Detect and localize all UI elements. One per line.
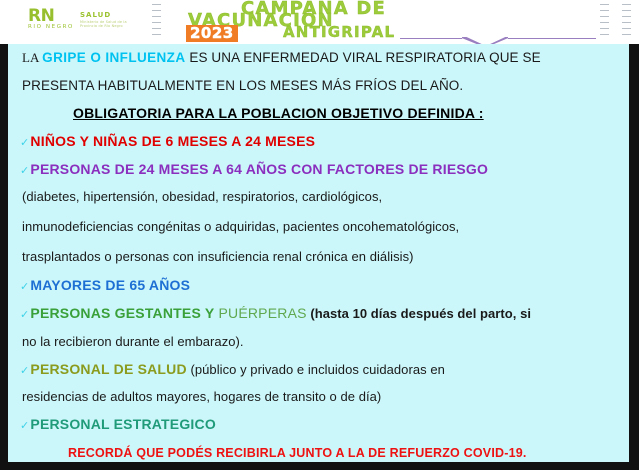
rio-negro-salud-logo: RN RIO NEGRO SALUD Ministerio de Salud d…: [28, 8, 148, 36]
detail-line: residencias de adultos mayores, hogares …: [22, 389, 381, 404]
intro-line-1: LA GRIPE O INFLUENZA ES UNA ENFERMEDAD V…: [22, 50, 541, 66]
logo-ministry: SALUD: [80, 11, 111, 19]
list-item-label-secondary: PUÉRPERAS: [218, 305, 306, 321]
list-item-personal-salud: ✓PERSONAL DE SALUD (público y privado e …: [20, 361, 445, 377]
logo-ministry-sub: Ministerio de Salud de la Provincia de R…: [80, 20, 144, 28]
section-heading: OBLIGATORIA PARA LA POBLACION OBJETIVO D…: [73, 105, 484, 121]
intro-line-2: PRESENTA HABITUALMENTE EN LOS MESES MÁS …: [22, 78, 463, 93]
campaign-banner: RN RIO NEGRO SALUD Ministerio de Salud d…: [0, 0, 639, 44]
list-item-label: PERSONAS DE 24 MESES A 64 AÑOS CON FACTO…: [30, 161, 488, 177]
list-item-inline-detail: (público y privado e incluidos cuidadora…: [190, 362, 444, 377]
check-icon: ✓: [20, 309, 29, 321]
list-item-inline-detail: (hasta 10 días después del parto, si: [310, 306, 531, 321]
content-sheet: LA GRIPE O INFLUENZA ES UNA ENFERMEDAD V…: [8, 44, 629, 462]
list-item-ninos: ✓NIÑOS Y NIÑAS DE 6 MESES A 24 MESES: [20, 133, 315, 149]
slide-screen: RN RIO NEGRO SALUD Ministerio de Salud d…: [0, 0, 639, 470]
dash-decoration-left: [152, 4, 161, 40]
campaign-year-badge: 2023: [186, 25, 238, 42]
intro-rest: ES UNA ENFERMEDAD VIRAL RESPIRATORIA QUE…: [185, 50, 540, 65]
intro-highlight: GRIPE O INFLUENZA: [42, 50, 185, 65]
list-item-label: NIÑOS Y NIÑAS DE 6 MESES A 24 MESES: [30, 133, 315, 149]
footer-note: RECORDÁ QUE PODÉS RECIBIRLA JUNTO A LA D…: [68, 446, 527, 460]
list-item-factores-riesgo: ✓PERSONAS DE 24 MESES A 64 AÑOS CON FACT…: [20, 161, 488, 177]
list-item-gestantes: ✓PERSONAS GESTANTES Y PUÉRPERAS (hasta 1…: [20, 305, 531, 321]
list-item-personal-estrategico: ✓PERSONAL ESTRATEGICO: [20, 416, 216, 432]
check-icon: ✓: [20, 165, 29, 177]
intro-prefix: LA: [22, 50, 42, 65]
campaign-line-3: ANTIGRIPAL: [283, 25, 395, 40]
list-item-label: PERSONAL ESTRATEGICO: [30, 416, 216, 432]
list-item-mayores-65: ✓MAYORES DE 65 AÑOS: [20, 277, 190, 293]
dash-decoration-right-b: [622, 4, 631, 40]
check-icon: ✓: [20, 420, 29, 432]
detail-line: no la recibieron durante el embarazo).: [22, 334, 244, 349]
list-item-label: MAYORES DE 65 AÑOS: [30, 277, 190, 293]
detail-line: trasplantados o personas con insuficienc…: [22, 249, 414, 264]
list-item-label: PERSONAS GESTANTES Y: [30, 305, 214, 321]
detail-line: (diabetes, hipertensión, obesidad, respi…: [22, 189, 382, 204]
check-icon: ✓: [20, 281, 29, 293]
check-icon: ✓: [20, 137, 29, 149]
check-icon: ✓: [20, 365, 29, 377]
detail-line: inmunodeficiencias congénitas o adquirid…: [22, 219, 459, 234]
list-item-label: PERSONAL DE SALUD: [30, 361, 186, 377]
